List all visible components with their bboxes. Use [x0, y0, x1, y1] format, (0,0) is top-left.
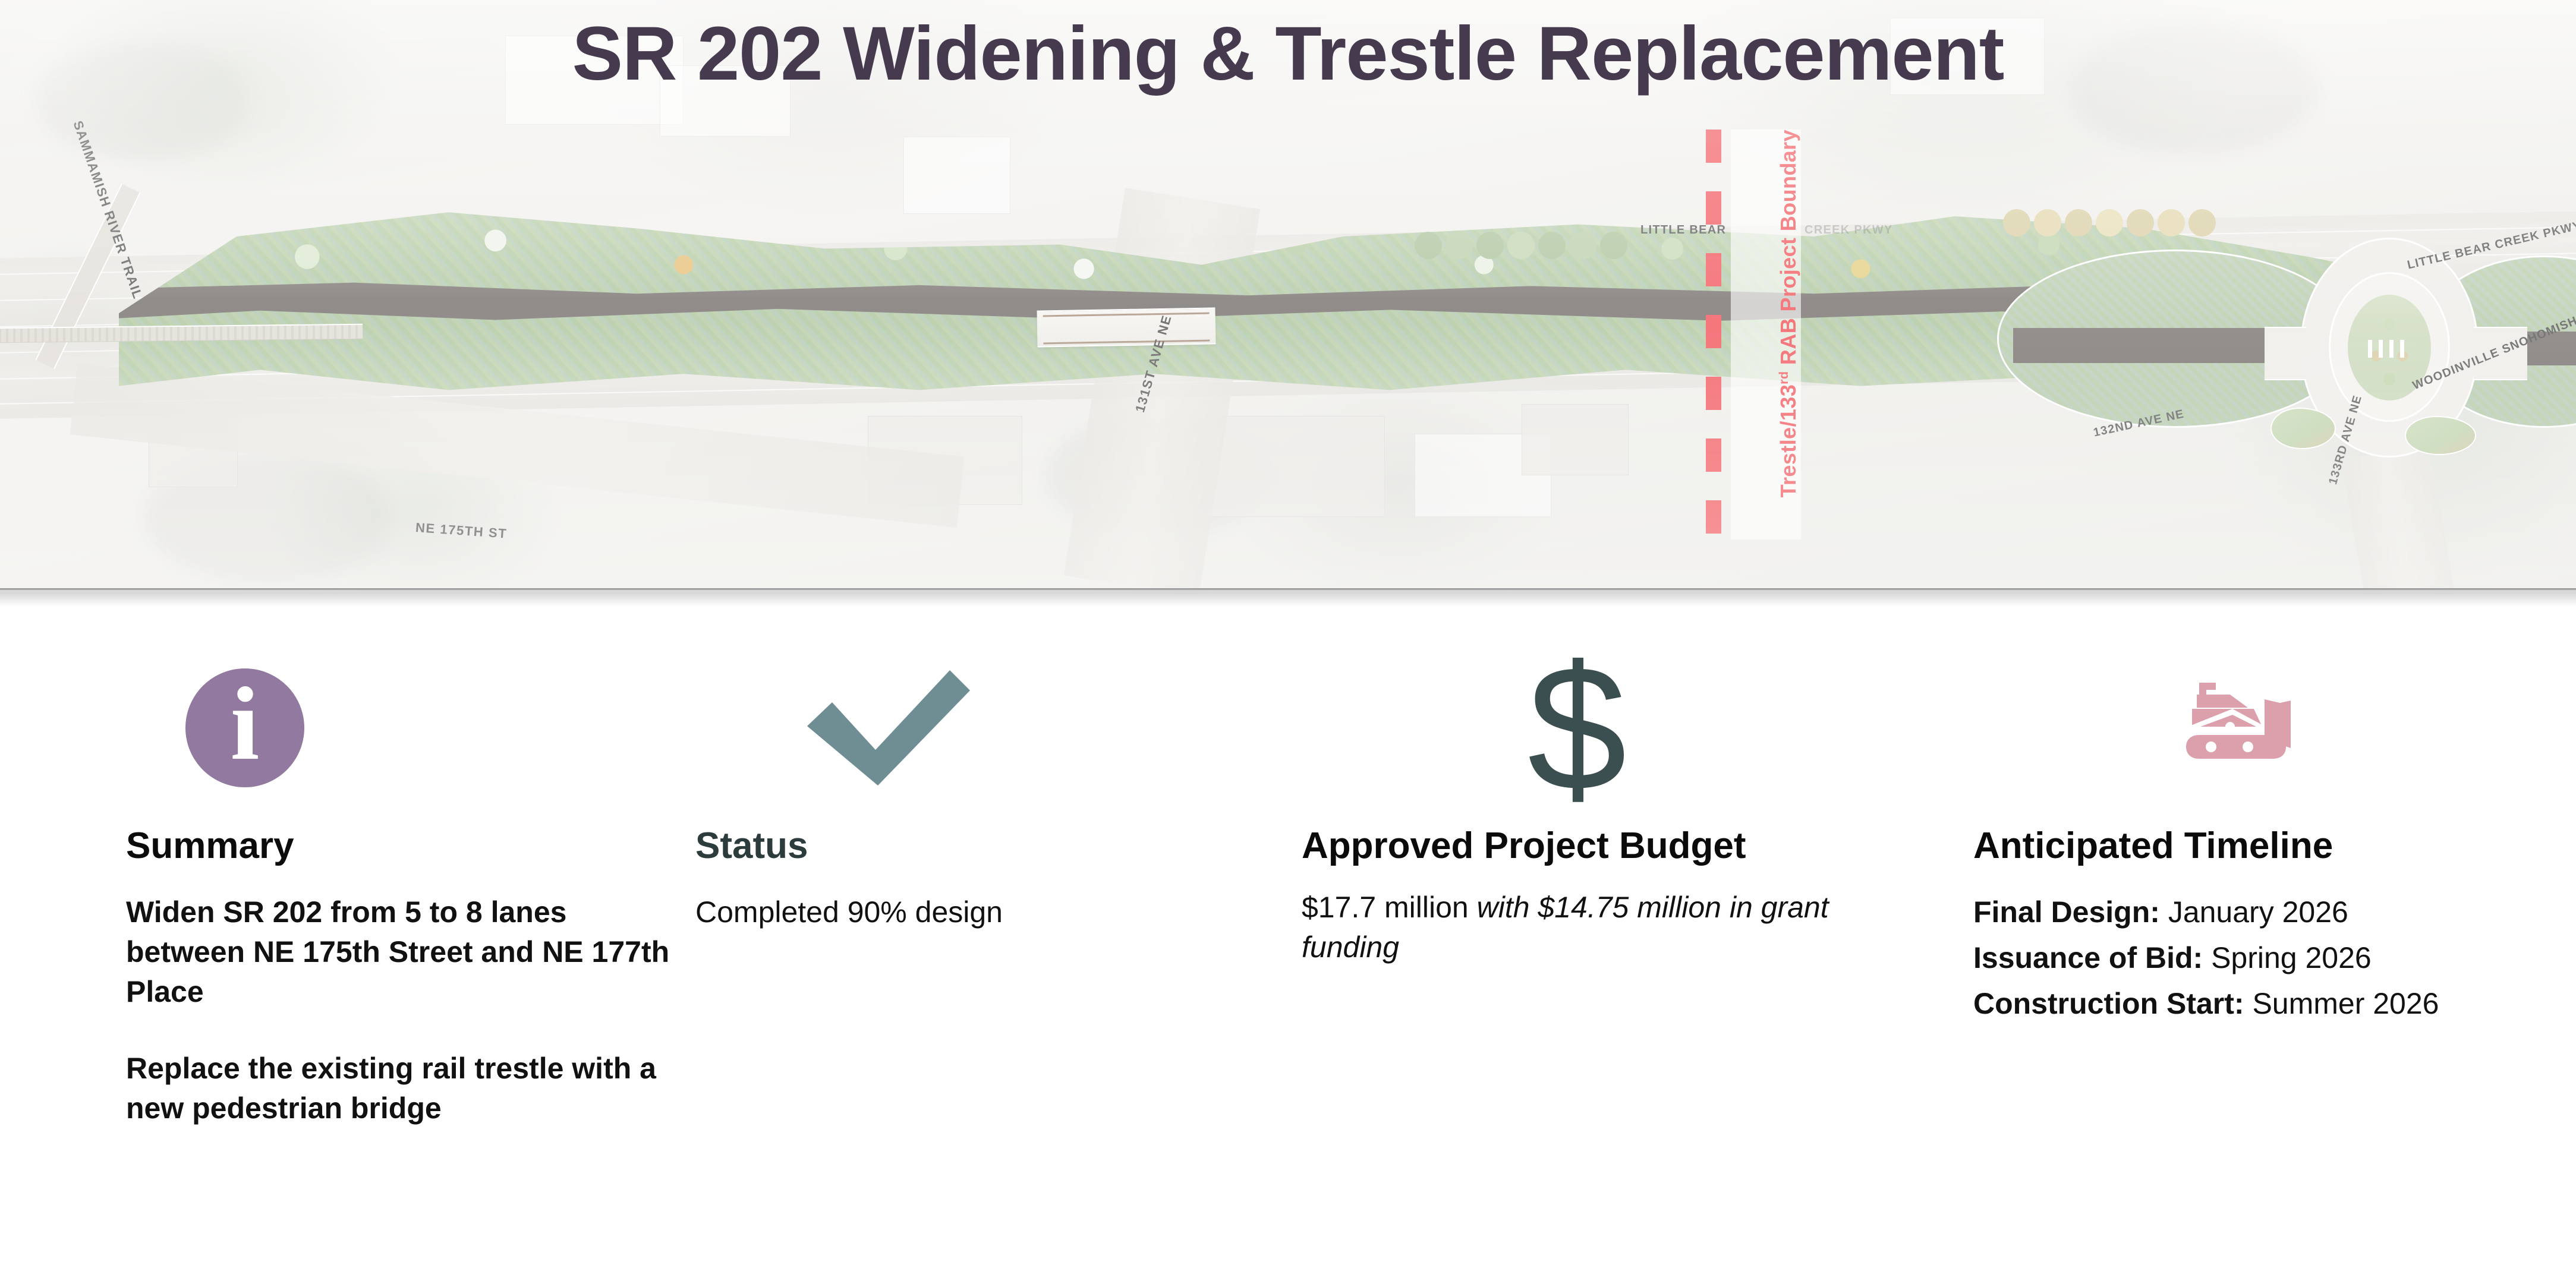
timeline-heading: Anticipated Timeline	[1973, 826, 2568, 866]
info-circle-icon: i	[185, 668, 304, 787]
column-budget: $ Approved Project Budget $17.7 million …	[1302, 630, 1896, 967]
timeline-body: Final Design: January 2026 Issuance of B…	[1973, 892, 2568, 1024]
timeline-row-label: Issuance of Bid:	[1973, 941, 2203, 974]
timeline-row-value: Summer 2026	[2244, 987, 2439, 1020]
timeline-icon-slot	[1973, 630, 2568, 826]
budget-value: $17.7 million with $14.75 million in gra…	[1302, 888, 1896, 967]
timeline-row: Construction Start: Summer 2026	[1973, 984, 2568, 1024]
timeline-row-label: Construction Start:	[1973, 987, 2244, 1020]
info-letter-i: i	[231, 682, 260, 767]
column-summary: i Summary Widen SR 202 from 5 to 8 lanes…	[126, 630, 685, 1128]
page-title: SR 202 Widening & Trestle Replacement	[0, 13, 2576, 95]
timeline-row-value: January 2026	[2160, 895, 2348, 929]
column-status: Status Completed 90% design	[695, 630, 1230, 932]
summary-paragraph-1: Widen SR 202 from 5 to 8 lanes between N…	[126, 892, 685, 1012]
budget-body: $17.7 million with $14.75 million in gra…	[1302, 888, 1896, 967]
timeline-row-label: Final Design:	[1973, 895, 2160, 929]
fact-columns: i Summary Widen SR 202 from 5 to 8 lanes…	[0, 630, 2576, 1283]
timeline-row-value: Spring 2026	[2203, 941, 2372, 974]
map-bottom-shadow	[0, 591, 2576, 607]
timeline-row: Final Design: January 2026	[1973, 892, 2568, 932]
summary-body: Widen SR 202 from 5 to 8 lanes between N…	[126, 892, 685, 1128]
status-icon-slot	[695, 630, 1230, 826]
dollar-sign-icon: $	[1528, 658, 1627, 797]
budget-icon-slot: $	[1302, 630, 1896, 826]
budget-amount: $17.7 million	[1302, 891, 1477, 924]
project-fact-sheet: SAMMAMISH RIVER TRAIL NE 175TH ST 131ST …	[0, 0, 2576, 1284]
summary-paragraph-2: Replace the existing rail trestle with a…	[126, 1049, 685, 1128]
summary-icon-slot: i	[126, 630, 685, 826]
summary-heading: Summary	[126, 826, 685, 866]
budget-heading: Approved Project Budget	[1302, 826, 1896, 866]
status-heading: Status	[695, 826, 1230, 866]
checkmark-icon	[796, 660, 975, 796]
timeline-row: Issuance of Bid: Spring 2026	[1973, 938, 2568, 978]
column-timeline: Anticipated Timeline Final Design: Janua…	[1973, 630, 2568, 1030]
status-body: Completed 90% design	[695, 892, 1230, 932]
status-value: Completed 90% design	[695, 892, 1230, 932]
bulldozer-icon	[2175, 674, 2324, 781]
